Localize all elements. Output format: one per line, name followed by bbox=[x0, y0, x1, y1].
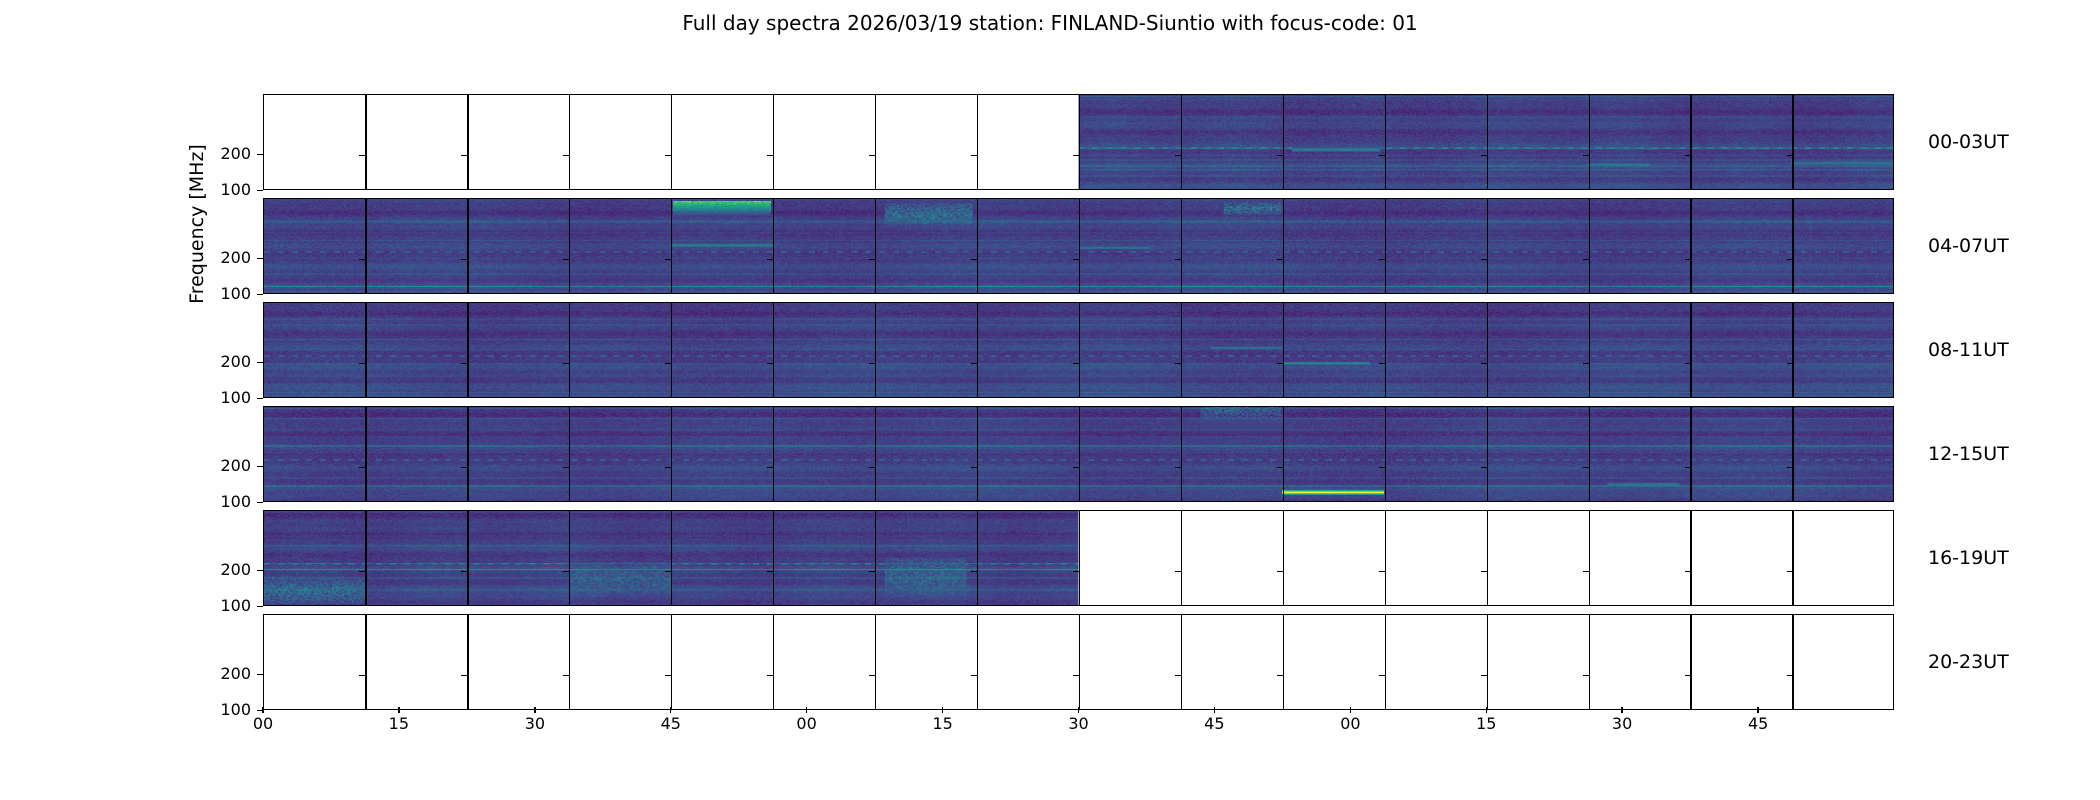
panel-inner-tick bbox=[563, 155, 569, 156]
y-axis-tick-label: 200 bbox=[203, 458, 251, 474]
panel-inner-tick bbox=[563, 259, 569, 260]
spectrogram-row[interactable] bbox=[263, 614, 1894, 710]
panel-separator bbox=[773, 407, 774, 501]
panel-inner-tick bbox=[665, 467, 671, 468]
y-axis-tick-label: 200 bbox=[203, 354, 251, 370]
panel-inner-tick bbox=[869, 571, 875, 572]
panel-separator bbox=[1690, 407, 1691, 501]
panel-inner-tick bbox=[359, 155, 365, 156]
panel-separator bbox=[1589, 199, 1590, 293]
panel-inner-tick bbox=[1481, 259, 1487, 260]
panel-separator bbox=[977, 615, 978, 709]
x-axis-tick-label: 45 bbox=[661, 716, 681, 732]
panel-separator bbox=[1487, 199, 1488, 293]
panel-inner-tick bbox=[1583, 155, 1589, 156]
panel-separator bbox=[773, 199, 774, 293]
panel-inner-tick bbox=[1481, 363, 1487, 364]
y-axis-tick bbox=[257, 466, 263, 467]
panel-separator bbox=[467, 407, 468, 501]
panel-inner-tick bbox=[1073, 259, 1079, 260]
panel-separator bbox=[977, 511, 978, 605]
panel-separator bbox=[1283, 615, 1284, 709]
panel-separator bbox=[1792, 199, 1793, 293]
panel-separator bbox=[875, 407, 876, 501]
row-label-00-03ut: 00-03UT bbox=[1928, 133, 2009, 152]
panel-separator bbox=[1283, 199, 1284, 293]
panel-inner-tick bbox=[563, 467, 569, 468]
panel-inner-tick bbox=[563, 675, 569, 676]
panel-separator bbox=[1385, 615, 1386, 709]
panel-separator bbox=[671, 199, 672, 293]
panel-inner-tick bbox=[869, 155, 875, 156]
panel-inner-tick bbox=[971, 467, 977, 468]
panel-inner-tick bbox=[1787, 363, 1793, 364]
y-axis-tick bbox=[257, 502, 263, 503]
panel-separator bbox=[1589, 95, 1590, 189]
x-axis-tick bbox=[806, 707, 807, 713]
panel-separator bbox=[773, 95, 774, 189]
panel-inner-tick bbox=[1379, 155, 1385, 156]
panel-separator bbox=[1792, 615, 1793, 709]
panel-separator bbox=[1079, 407, 1080, 501]
panel-inner-tick bbox=[1175, 675, 1181, 676]
panel-inner-tick bbox=[359, 259, 365, 260]
x-axis-tick bbox=[1757, 707, 1758, 713]
panel-separator bbox=[365, 511, 366, 605]
panel-separator bbox=[1690, 303, 1691, 397]
panel-separator bbox=[1181, 95, 1182, 189]
panel-separator bbox=[875, 95, 876, 189]
panel-inner-tick bbox=[665, 155, 671, 156]
y-axis-tick-label: 100 bbox=[203, 494, 251, 510]
panel-separator bbox=[1487, 303, 1488, 397]
x-axis-tick bbox=[534, 707, 535, 713]
panel-separator bbox=[1487, 407, 1488, 501]
y-axis-tick-label: 200 bbox=[203, 666, 251, 682]
panel-inner-tick bbox=[1073, 675, 1079, 676]
panel-inner-tick bbox=[971, 155, 977, 156]
panel-inner-tick bbox=[1277, 259, 1283, 260]
panel-separator bbox=[1589, 511, 1590, 605]
panel-separator bbox=[1792, 407, 1793, 501]
panel-separator bbox=[569, 303, 570, 397]
panel-separator bbox=[569, 95, 570, 189]
panel-inner-tick bbox=[665, 363, 671, 364]
panel-inner-tick bbox=[665, 259, 671, 260]
panel-separator bbox=[977, 407, 978, 501]
panel-inner-tick bbox=[1787, 467, 1793, 468]
panel-separator bbox=[1283, 95, 1284, 189]
y-axis-tick bbox=[257, 606, 263, 607]
panel-inner-tick bbox=[1379, 571, 1385, 572]
panel-inner-tick bbox=[869, 259, 875, 260]
y-axis-tick-label: 100 bbox=[203, 702, 251, 718]
panel-separator bbox=[1385, 303, 1386, 397]
y-axis-tick-label: 100 bbox=[203, 286, 251, 302]
panel-inner-tick bbox=[563, 571, 569, 572]
x-axis-tick-label: 00 bbox=[1340, 716, 1360, 732]
y-axis-tick bbox=[257, 674, 263, 675]
panel-separator bbox=[875, 303, 876, 397]
panel-inner-tick bbox=[1583, 259, 1589, 260]
panel-separator bbox=[977, 95, 978, 189]
x-axis-tick-label: 30 bbox=[525, 716, 545, 732]
panel-inner-tick bbox=[1175, 363, 1181, 364]
panel-separator bbox=[365, 95, 366, 189]
panel-inner-tick bbox=[1685, 571, 1691, 572]
x-axis-tick bbox=[1214, 707, 1215, 713]
panel-separator bbox=[467, 199, 468, 293]
panel-inner-tick bbox=[665, 571, 671, 572]
panel-inner-tick bbox=[359, 571, 365, 572]
panel-separator bbox=[1589, 303, 1590, 397]
spectrogram-row[interactable] bbox=[263, 302, 1894, 398]
panel-separator bbox=[1283, 407, 1284, 501]
row-label-20-23ut: 20-23UT bbox=[1928, 653, 2009, 672]
panel-separator bbox=[569, 407, 570, 501]
panel-separator bbox=[569, 511, 570, 605]
panel-inner-tick bbox=[971, 363, 977, 364]
panel-separator bbox=[977, 303, 978, 397]
panel-separator bbox=[773, 615, 774, 709]
panel-inner-tick bbox=[767, 155, 773, 156]
y-axis-tick-label: 200 bbox=[203, 250, 251, 266]
y-axis-tick-label: 100 bbox=[203, 390, 251, 406]
x-axis-tick bbox=[670, 707, 671, 713]
panel-separator bbox=[1792, 95, 1793, 189]
panel-separator bbox=[1079, 199, 1080, 293]
panel-separator bbox=[1283, 303, 1284, 397]
panel-inner-tick bbox=[1481, 675, 1487, 676]
x-axis-tick-label: 15 bbox=[932, 716, 952, 732]
panel-inner-tick bbox=[869, 363, 875, 364]
panel-inner-tick bbox=[1787, 571, 1793, 572]
panel-separator bbox=[1690, 199, 1691, 293]
panel-inner-tick bbox=[1685, 155, 1691, 156]
panel-inner-tick bbox=[869, 467, 875, 468]
panel-inner-tick bbox=[767, 363, 773, 364]
panel-separator bbox=[1487, 511, 1488, 605]
panel-separator bbox=[1283, 511, 1284, 605]
row-label-16-19ut: 16-19UT bbox=[1928, 549, 2009, 568]
row-label-08-11ut: 08-11UT bbox=[1928, 341, 2009, 360]
spectrogram-row[interactable] bbox=[263, 406, 1894, 502]
panel-inner-tick bbox=[971, 571, 977, 572]
x-axis-tick-label: 30 bbox=[1612, 716, 1632, 732]
panel-separator bbox=[1589, 615, 1590, 709]
panel-inner-tick bbox=[971, 675, 977, 676]
panel-separator bbox=[1487, 615, 1488, 709]
panel-inner-tick bbox=[1277, 155, 1283, 156]
panel-separator bbox=[1079, 303, 1080, 397]
y-axis-tick bbox=[257, 362, 263, 363]
panel-inner-tick bbox=[1073, 155, 1079, 156]
panel-inner-tick bbox=[1787, 259, 1793, 260]
panel-inner-tick bbox=[1379, 363, 1385, 364]
panel-inner-tick bbox=[1277, 675, 1283, 676]
panel-separator bbox=[671, 303, 672, 397]
panel-separator bbox=[1690, 95, 1691, 189]
panel-inner-tick bbox=[359, 467, 365, 468]
panel-separator bbox=[671, 511, 672, 605]
x-axis-tick-label: 15 bbox=[1476, 716, 1496, 732]
y-axis-tick bbox=[257, 398, 263, 399]
panel-separator bbox=[569, 199, 570, 293]
panel-separator bbox=[467, 303, 468, 397]
panel-separator bbox=[1690, 615, 1691, 709]
panel-separator bbox=[365, 199, 366, 293]
panel-inner-tick bbox=[1583, 363, 1589, 364]
panel-separator bbox=[1079, 95, 1080, 189]
panel-inner-tick bbox=[1073, 467, 1079, 468]
panel-inner-tick bbox=[461, 467, 467, 468]
panel-inner-tick bbox=[1073, 363, 1079, 364]
y-axis-tick bbox=[257, 258, 263, 259]
panel-separator bbox=[1792, 303, 1793, 397]
panel-separator bbox=[671, 407, 672, 501]
x-axis-tick bbox=[262, 707, 263, 713]
x-axis-tick-label: 45 bbox=[1748, 716, 1768, 732]
panel-separator bbox=[1589, 407, 1590, 501]
row-label-12-15ut: 12-15UT bbox=[1928, 445, 2009, 464]
x-axis-tick bbox=[1350, 707, 1351, 713]
panel-inner-tick bbox=[1277, 467, 1283, 468]
panel-separator bbox=[1385, 199, 1386, 293]
panel-inner-tick bbox=[1379, 675, 1385, 676]
y-axis-tick bbox=[257, 570, 263, 571]
panel-inner-tick bbox=[1787, 155, 1793, 156]
panel-inner-tick bbox=[1685, 259, 1691, 260]
panel-separator bbox=[1079, 615, 1080, 709]
panel-inner-tick bbox=[1481, 467, 1487, 468]
x-axis-tick-label: 00 bbox=[796, 716, 816, 732]
panel-separator bbox=[773, 511, 774, 605]
panel-inner-tick bbox=[1583, 467, 1589, 468]
panel-separator bbox=[467, 615, 468, 709]
panel-inner-tick bbox=[1583, 675, 1589, 676]
panel-inner-tick bbox=[1277, 363, 1283, 364]
panel-separator bbox=[365, 407, 366, 501]
panel-inner-tick bbox=[461, 259, 467, 260]
panel-inner-tick bbox=[1379, 467, 1385, 468]
panel-inner-tick bbox=[461, 571, 467, 572]
panel-separator bbox=[1181, 303, 1182, 397]
panel-separator bbox=[1385, 511, 1386, 605]
y-axis-tick-label: 100 bbox=[203, 182, 251, 198]
panel-separator bbox=[977, 199, 978, 293]
y-axis-tick-label: 200 bbox=[203, 146, 251, 162]
panel-inner-tick bbox=[1481, 155, 1487, 156]
panel-separator bbox=[1690, 511, 1691, 605]
panel-inner-tick bbox=[1685, 467, 1691, 468]
panel-separator bbox=[875, 615, 876, 709]
spectrogram-figure: Full day spectra 2026/03/19 station: FIN… bbox=[0, 0, 2100, 800]
y-axis-tick-label: 200 bbox=[203, 562, 251, 578]
panel-inner-tick bbox=[1379, 259, 1385, 260]
panel-inner-tick bbox=[767, 571, 773, 572]
panel-separator bbox=[1385, 407, 1386, 501]
x-axis-tick bbox=[1078, 707, 1079, 713]
y-axis-tick bbox=[257, 154, 263, 155]
panel-separator bbox=[773, 303, 774, 397]
y-axis-tick bbox=[257, 190, 263, 191]
panel-inner-tick bbox=[1175, 571, 1181, 572]
panel-inner-tick bbox=[359, 363, 365, 364]
panel-inner-tick bbox=[869, 675, 875, 676]
x-axis-tick bbox=[942, 707, 943, 713]
x-axis-tick-label: 00 bbox=[253, 716, 273, 732]
panel-separator bbox=[671, 95, 672, 189]
spectrogram-row[interactable] bbox=[263, 94, 1894, 190]
panel-separator bbox=[1181, 199, 1182, 293]
panel-inner-tick bbox=[767, 467, 773, 468]
panel-separator bbox=[467, 511, 468, 605]
panel-separator bbox=[671, 615, 672, 709]
panel-separator bbox=[1385, 95, 1386, 189]
panel-inner-tick bbox=[1277, 571, 1283, 572]
panel-separator bbox=[1181, 615, 1182, 709]
panel-inner-tick bbox=[767, 675, 773, 676]
panel-inner-tick bbox=[1481, 571, 1487, 572]
spectrogram-row[interactable] bbox=[263, 198, 1894, 294]
y-axis-tick bbox=[257, 294, 263, 295]
y-axis-tick-label: 100 bbox=[203, 598, 251, 614]
panel-inner-tick bbox=[1175, 155, 1181, 156]
panel-inner-tick bbox=[1787, 675, 1793, 676]
panel-separator bbox=[1792, 511, 1793, 605]
panel-inner-tick bbox=[1685, 363, 1691, 364]
panel-inner-tick bbox=[1685, 675, 1691, 676]
panel-inner-tick bbox=[1583, 571, 1589, 572]
x-axis-tick-label: 15 bbox=[389, 716, 409, 732]
x-axis-tick-label: 30 bbox=[1068, 716, 1088, 732]
panel-separator bbox=[569, 615, 570, 709]
x-axis-tick bbox=[398, 707, 399, 713]
panel-inner-tick bbox=[563, 363, 569, 364]
panel-inner-tick bbox=[1175, 259, 1181, 260]
panel-inner-tick bbox=[461, 363, 467, 364]
spectrogram-row[interactable] bbox=[263, 510, 1894, 606]
panel-separator bbox=[875, 199, 876, 293]
panel-separator bbox=[875, 511, 876, 605]
panel-inner-tick bbox=[767, 259, 773, 260]
panel-inner-tick bbox=[665, 675, 671, 676]
panel-separator bbox=[467, 95, 468, 189]
panel-separator bbox=[1079, 511, 1080, 605]
page-title: Full day spectra 2026/03/19 station: FIN… bbox=[0, 10, 2100, 36]
panel-separator bbox=[1181, 511, 1182, 605]
x-axis-tick-label: 45 bbox=[1204, 716, 1224, 732]
row-label-04-07ut: 04-07UT bbox=[1928, 237, 2009, 256]
panel-inner-tick bbox=[461, 155, 467, 156]
panel-inner-tick bbox=[971, 259, 977, 260]
panel-separator bbox=[1181, 407, 1182, 501]
panel-inner-tick bbox=[461, 675, 467, 676]
x-axis-tick bbox=[1621, 707, 1622, 713]
panel-separator bbox=[1487, 95, 1488, 189]
panel-separator bbox=[365, 303, 366, 397]
panel-separator bbox=[365, 615, 366, 709]
panel-inner-tick bbox=[1073, 571, 1079, 572]
panel-inner-tick bbox=[359, 675, 365, 676]
x-axis-tick bbox=[1486, 707, 1487, 713]
panel-inner-tick bbox=[1175, 467, 1181, 468]
